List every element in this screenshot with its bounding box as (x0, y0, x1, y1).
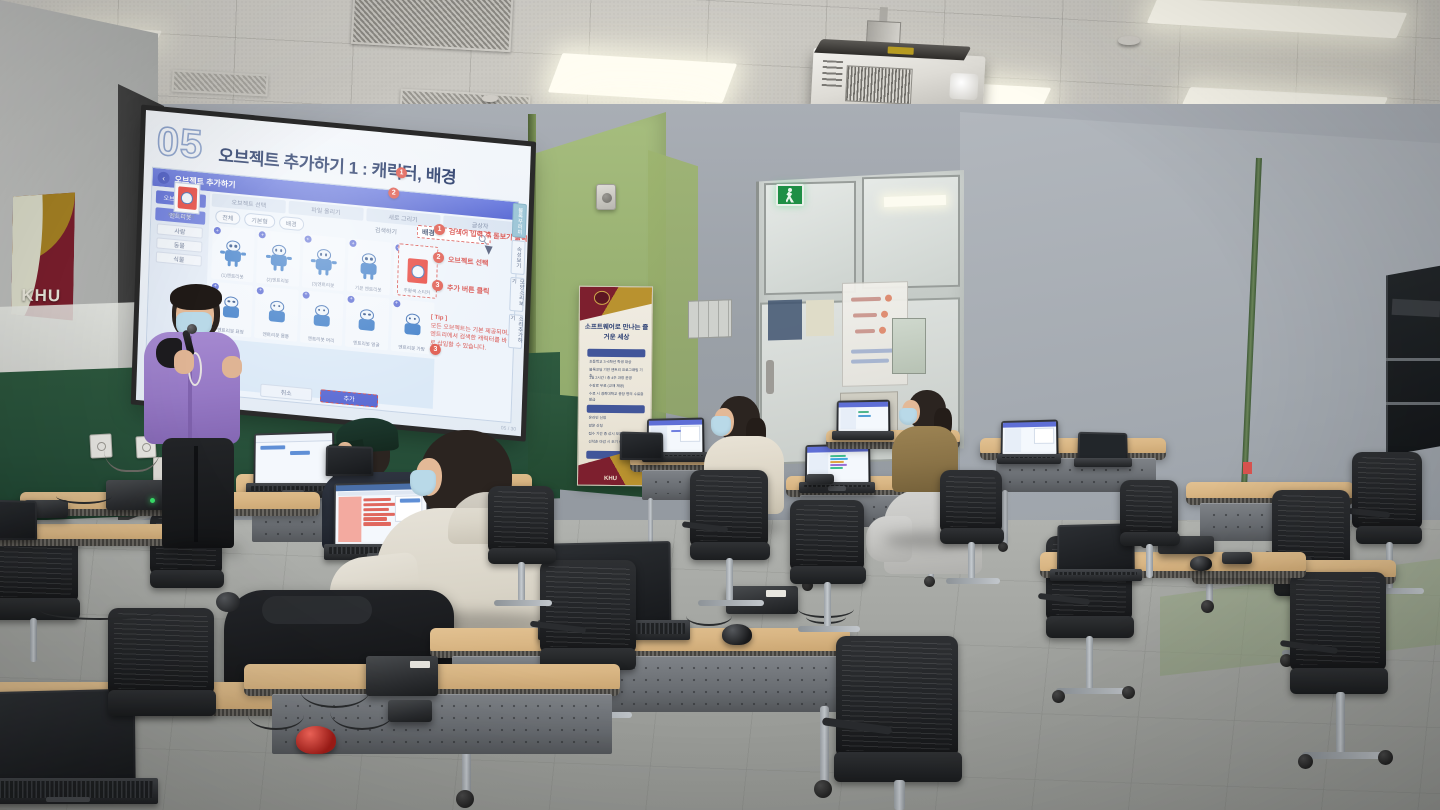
search-input-value: 배경 (422, 227, 435, 238)
banner-apply-item: 방문 신청 (589, 424, 645, 430)
object-tile[interactable]: + 엔트리봇 머리 (300, 290, 344, 346)
add-icon[interactable]: + (302, 291, 309, 299)
banner-section-body: 초등학교 3~6학년 학생 대상 (589, 360, 645, 366)
add-icon[interactable]: + (304, 235, 311, 243)
instructor-hair (170, 284, 222, 310)
smoke-detector-icon (1118, 36, 1140, 45)
rtab-add-sound[interactable]: 소리추가하기 (508, 314, 523, 349)
power-adapter (106, 480, 168, 510)
rtab-shapes-sounds[interactable]: 모양소리보기 (509, 277, 524, 312)
object-label: (1)엔트리봇 (211, 271, 253, 281)
selected-thumbnail[interactable] (173, 182, 200, 214)
instructor-hand-right (222, 356, 242, 378)
banner-apply-item: 온라인 신청 (589, 416, 645, 422)
door-poster-blue (768, 300, 802, 341)
object-tile[interactable]: + 엔트리봇 몸통 (255, 285, 299, 341)
classroom-photo: KHU 소프트웨어로 만나는 즐거운 세상 (0, 0, 1440, 810)
filter-background[interactable]: 배경 (279, 216, 304, 231)
hvac-vent (351, 0, 514, 52)
banner-seal-icon (594, 291, 610, 305)
red-mouse[interactable] (296, 726, 336, 754)
pole-tag (1243, 462, 1252, 474)
sidebar-item-plant[interactable]: 식물 (156, 251, 202, 266)
add-button[interactable]: 추가 (320, 389, 378, 407)
object-tile[interactable]: + 기본 엔트리봇 (347, 238, 391, 294)
add-icon[interactable]: + (348, 295, 355, 303)
window-strip (1392, 299, 1440, 317)
khu-logo: KHU (11, 191, 75, 320)
object-label: 엔트리봇 얼굴 (345, 339, 388, 349)
slide-footer-page: 05 / 30 (501, 425, 516, 432)
slide-section-number: 05 (156, 119, 204, 168)
object-tile[interactable]: + (1)엔트리봇 (211, 226, 255, 282)
banner-top-graphic (580, 287, 652, 322)
object-label: 엔트리봇 몸통 (255, 331, 298, 341)
sidebar-item-person[interactable]: 사람 (157, 223, 203, 238)
object-label: (2)엔트리봇 (256, 275, 299, 285)
object-thumbnail (407, 258, 428, 284)
instructor-pants (162, 438, 234, 548)
search-label: 검색하기 (375, 225, 397, 236)
add-icon[interactable]: + (214, 227, 221, 235)
add-icon[interactable]: + (350, 240, 357, 248)
banner-section-body: 수강료 무료 (교재 제공) (589, 384, 645, 390)
banner-section-body: 수료 시 경희대학교 총장 명의 수료증 발급 (589, 392, 645, 404)
cancel-button[interactable]: 취소 (260, 383, 312, 401)
projector-vent-label (822, 60, 843, 87)
black-mouse[interactable] (722, 624, 752, 645)
exit-running-person-icon (786, 188, 795, 203)
khu-logo-text: KHU (21, 286, 61, 307)
device-box (1222, 552, 1252, 564)
banner-section-body: 1일 2시간 / 총 4주 과정 운영 (589, 376, 645, 382)
object-label: 엔트리봇 가방 (390, 344, 433, 354)
projector-lens (949, 73, 978, 100)
device-box (388, 700, 432, 722)
object-tile[interactable]: + 엔트리봇 얼굴 (345, 294, 389, 350)
smoke-detector-icon (482, 95, 498, 102)
add-icon[interactable]: + (257, 286, 264, 294)
chevron-left-icon[interactable]: ‹ (157, 171, 169, 184)
black-mouse[interactable] (216, 592, 240, 612)
projector-badge (888, 46, 914, 54)
wall-notice-grid (688, 299, 732, 339)
object-tile[interactable]: + (3)엔트리봇 (302, 234, 346, 290)
door-poster-cream (806, 300, 834, 337)
object-label-selected: 주황색 스티커 (398, 287, 436, 297)
object-tile-selected[interactable]: 주황색 스티커 (397, 243, 439, 299)
banner-section-bar (587, 405, 645, 414)
wall-speaker (596, 184, 616, 210)
glass-pane (862, 175, 960, 289)
cursor-arrow-icon (485, 243, 495, 255)
banner-org-text: KHU (604, 476, 617, 482)
power-adapter (806, 474, 834, 484)
object-tile[interactable]: + (2)엔트리봇 (256, 230, 300, 286)
door-handle[interactable] (766, 360, 774, 394)
object-label: (3)엔트리봇 (302, 280, 344, 290)
rtab-properties[interactable]: 속성보기 (511, 240, 526, 275)
black-mouse[interactable] (1190, 556, 1212, 571)
power-adapter (366, 656, 438, 696)
object-label: 기본 엔트리봇 (347, 284, 390, 294)
banner-section-bar (587, 349, 645, 358)
object-tile[interactable]: + 엔트리봇 가방 (390, 298, 434, 354)
instructor-hand-left (174, 350, 194, 374)
rtab-block-palette[interactable]: 블록꾸러미 (512, 203, 527, 238)
exit-sign (776, 184, 804, 206)
filter-all[interactable]: 전체 (215, 210, 240, 225)
add-icon[interactable]: + (393, 299, 400, 307)
object-label: 엔트리봇 머리 (300, 335, 342, 345)
emergency-equipment-box (892, 318, 926, 374)
filter-basic[interactable]: 기본형 (244, 213, 275, 229)
sidebar-item-animal[interactable]: 동물 (156, 237, 202, 252)
backpack-strap (262, 596, 372, 624)
add-icon[interactable]: + (259, 231, 266, 239)
banner-headline: 소프트웨어로 만나는 즐거운 세상 (583, 323, 649, 343)
green-accent-wall-second (648, 150, 698, 420)
projector-grille (845, 65, 913, 104)
